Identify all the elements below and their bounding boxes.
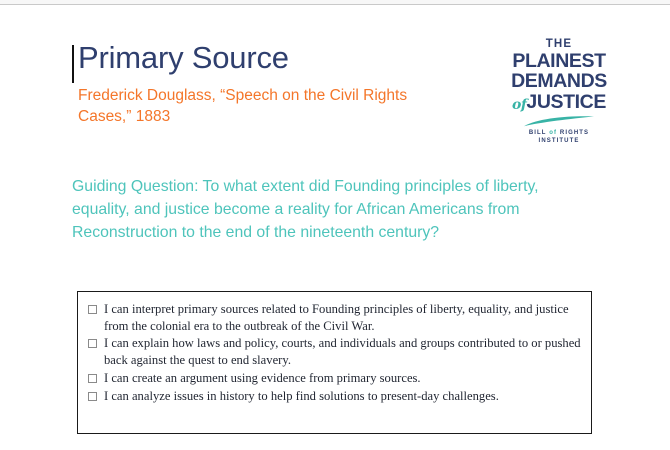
checkbox-icon[interactable]	[88, 374, 97, 383]
logo-institute-bill: BILL	[529, 130, 547, 136]
logo-institute-of: of	[549, 130, 557, 136]
viewer-top-bar	[0, 0, 670, 5]
list-item[interactable]: I can create an argument using evidence …	[88, 370, 581, 387]
checkbox-icon[interactable]	[88, 339, 97, 348]
logo-script-of: of	[512, 97, 526, 113]
logo-line-the: THE	[505, 39, 613, 51]
logo-line-of-justice: ofJUSTICE	[505, 93, 613, 113]
slide-canvas: Primary Source Frederick Douglass, “Spee…	[0, 6, 670, 450]
objective-text: I can analyze issues in history to help …	[104, 388, 499, 405]
list-item[interactable]: I can explain how laws and policy, court…	[88, 335, 581, 368]
logo-institute-line-2: INSTITUTE	[505, 137, 613, 145]
objective-text: I can interpret primary sources related …	[104, 301, 581, 334]
source-citation-subtitle: Frederick Douglass, “Speech on the Civil…	[72, 85, 458, 128]
logo-line-plainest: PLAINEST	[505, 52, 613, 72]
learning-objectives-list: I can interpret primary sources related …	[88, 301, 581, 404]
guiding-question: Guiding Question: To what extent did Fou…	[72, 176, 587, 245]
logo-swoosh-icon	[522, 115, 596, 128]
checkbox-icon[interactable]	[88, 305, 97, 314]
checkbox-icon[interactable]	[88, 392, 97, 401]
list-item[interactable]: I can interpret primary sources related …	[88, 301, 581, 334]
title-block: Primary Source Frederick Douglass, “Spee…	[72, 40, 472, 127]
bill-of-rights-institute-logo: THE PLAINEST DEMANDS ofJUSTICE BILL of R…	[505, 39, 613, 145]
document-viewer: Primary Source Frederick Douglass, “Spee…	[0, 0, 670, 450]
logo-institute-line-1: BILL of RIGHTS	[505, 129, 613, 137]
learning-objectives-box: I can interpret primary sources related …	[77, 291, 592, 434]
objective-text: I can explain how laws and policy, court…	[104, 335, 581, 368]
logo-line-demands: DEMANDS	[505, 72, 613, 92]
logo-institute-text: BILL of RIGHTS INSTITUTE	[505, 129, 613, 145]
logo-word-justice: JUSTICE	[526, 91, 606, 113]
objective-text: I can create an argument using evidence …	[104, 370, 421, 387]
text-cursor-caret	[72, 45, 74, 83]
page-title: Primary Source	[72, 40, 472, 76]
logo-institute-rights: RIGHTS	[560, 130, 589, 136]
list-item[interactable]: I can analyze issues in history to help …	[88, 388, 581, 405]
